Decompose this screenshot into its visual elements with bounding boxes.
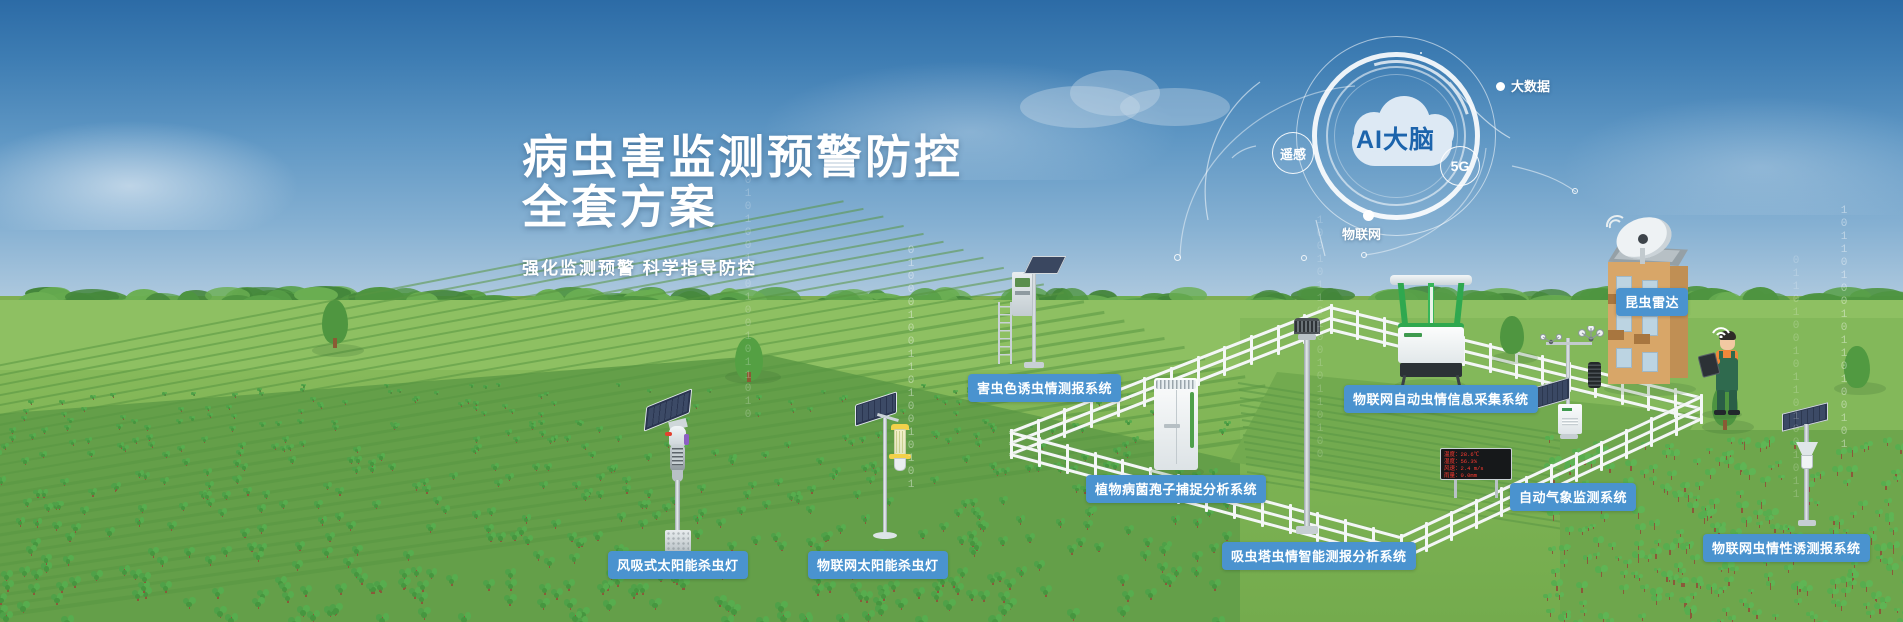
crop-plant (425, 569, 438, 581)
wind-lamp-foundation-texture (667, 532, 689, 550)
label-spore-capture[interactable]: 植物病菌孢子捕捉分析系统 (1086, 475, 1266, 503)
crop-plant (805, 538, 817, 549)
crop-plant (581, 444, 589, 451)
pest-trap-cabinet-window (1015, 278, 1030, 287)
crop-plant (595, 491, 605, 500)
crop-plant (414, 396, 420, 401)
pest-color-trap-device[interactable] (990, 272, 1070, 372)
meadow-plant (1592, 537, 1605, 548)
crop-plant (482, 580, 496, 592)
meadow-plant (1794, 599, 1802, 606)
fence-post (1090, 398, 1093, 428)
crop-plant (494, 480, 504, 488)
crop-plant (159, 582, 173, 594)
crop-plant (953, 390, 959, 395)
crop-plant (160, 478, 169, 486)
crop-plant (615, 436, 623, 443)
crop-plant (350, 568, 363, 580)
meadow-plant (1727, 438, 1735, 445)
crop-plant (353, 447, 361, 454)
crop-plant (32, 519, 43, 529)
crop-plant (298, 409, 305, 415)
meadow-plant (1676, 578, 1688, 589)
crop-plant (23, 409, 30, 415)
crop-plant (562, 580, 576, 592)
meadow-plant (1885, 564, 1900, 577)
crop-plant (134, 518, 145, 528)
ai-node-bigdata-dot[interactable] (1496, 82, 1505, 91)
crop-plant (509, 409, 516, 415)
led-info-board[interactable]: 温度：28.6℃ 湿度：56.3% 风速：2.4 m/s 雨量：0.0mm (1440, 448, 1512, 498)
crop-plant (60, 479, 70, 487)
led-board-leg-right (1495, 480, 1498, 498)
crop-plant (243, 488, 253, 497)
crop-plant (1116, 606, 1131, 619)
meadow-plant (1555, 593, 1564, 601)
crop-plant (43, 504, 54, 513)
crop-plant (9, 436, 17, 443)
fence-post (1143, 377, 1146, 407)
crop-plant (224, 614, 239, 622)
crop-plant (1, 581, 15, 593)
crop-plant (648, 599, 663, 612)
label-pest-color-trap[interactable]: 害虫色诱虫情测报系统 (968, 374, 1121, 402)
worker-shoe-r (1728, 410, 1740, 415)
crop-plant (1, 444, 9, 451)
crop-plant (0, 451, 2, 458)
crop-plant (310, 397, 316, 402)
meadow-plant (1783, 565, 1794, 575)
meadow-plant (1594, 566, 1609, 579)
crop-plant (220, 547, 232, 558)
crop-plant (62, 556, 75, 567)
crop-plant (1156, 563, 1169, 575)
meadow-plant (1772, 614, 1779, 620)
crop-plant (564, 436, 572, 443)
meadow-plant (1748, 589, 1754, 595)
meadow-plant (1694, 482, 1704, 491)
crop-plant (388, 390, 394, 395)
meadow-plant (1650, 595, 1663, 607)
crop-plant (544, 464, 553, 472)
crop-plant (1039, 586, 1053, 598)
radar-dish-mount (1640, 248, 1645, 264)
crop-plant (434, 391, 440, 396)
crop-plant (33, 490, 43, 499)
crop-plant (0, 594, 8, 607)
crop-plant (839, 397, 845, 402)
crop-plant (331, 420, 338, 426)
field-worker (1700, 330, 1748, 416)
label-iot-insect-collector[interactable]: 物联网自动虫情信息采集系统 (1344, 385, 1538, 413)
meadow-plant (1884, 517, 1895, 527)
crop-plant (647, 389, 653, 394)
crop-plant (874, 605, 889, 618)
label-iot-pheromone-trap[interactable]: 物联网虫情性诱测报系统 (1703, 534, 1870, 562)
radar-building-balcony-3 (1608, 330, 1624, 340)
radar-building-window-f (1642, 352, 1658, 372)
crop-plant (318, 404, 324, 410)
iot-insect-collector-device[interactable] (1388, 275, 1474, 387)
crop-plant (954, 428, 961, 435)
crop-plant (496, 383, 501, 388)
crop-plant (770, 533, 782, 543)
pheromone-base (1798, 520, 1816, 526)
binary-stream-1: 0100010011010010101 (905, 245, 916, 492)
crop-plant (974, 512, 985, 522)
crop-plant (551, 401, 557, 407)
crop-plant (596, 474, 605, 482)
crop-plant (784, 442, 792, 449)
meadow-plant (1723, 577, 1735, 588)
crop-plant (538, 584, 552, 596)
crop-plant (15, 518, 26, 528)
ai-node-5g-label: 5G (1451, 158, 1470, 174)
crop-plant (54, 502, 65, 511)
crop-plant (371, 501, 381, 510)
crop-plant (471, 511, 482, 521)
crop-plant (110, 393, 116, 398)
crop-plant (761, 501, 771, 510)
crop-plant (9, 428, 16, 435)
crop-plant (934, 395, 940, 400)
tree-trunk-1 (333, 338, 337, 348)
crop-plant (296, 606, 311, 619)
meadow-plant (1893, 476, 1901, 483)
crop-plant (177, 446, 185, 453)
crop-plant (67, 418, 74, 424)
crop-plant (313, 501, 323, 510)
meadow-plant (1843, 480, 1851, 487)
meadow-plant (1624, 460, 1638, 472)
crop-plant (422, 486, 432, 495)
crop-plant (1121, 591, 1135, 604)
meadow-plant (1722, 452, 1732, 461)
crop-plant (117, 443, 125, 450)
meadow-plant (1863, 603, 1871, 610)
crop-plant (183, 548, 195, 559)
crop-plant (323, 483, 333, 492)
crop-plant (85, 438, 93, 445)
pest-trap-ladder-rungs (1000, 306, 1012, 362)
crop-plant (592, 532, 604, 542)
meadow-plant (1665, 593, 1674, 601)
meadow-plant (1736, 491, 1745, 499)
worker-leg-r (1729, 390, 1737, 412)
crop-plant (807, 407, 814, 413)
fence-post (1675, 406, 1678, 436)
spore-capture-device[interactable] (1150, 378, 1204, 474)
crop-plant (774, 479, 783, 487)
crop-plant (27, 584, 41, 596)
crop-plant (568, 554, 581, 565)
crop-plant (297, 419, 304, 425)
meadow-plant (1728, 616, 1737, 622)
fence-post (1038, 437, 1041, 467)
crop-plant (90, 571, 103, 583)
crop-plant (953, 411, 960, 417)
meadow-plant (1635, 575, 1643, 582)
spore-capture-green-stripe (1190, 392, 1194, 448)
crop-plant (22, 499, 32, 508)
meadow-plant (1648, 477, 1658, 486)
crop-plant (1113, 448, 1121, 455)
crop-plant (231, 414, 238, 420)
crop-plant (70, 524, 81, 534)
crop-plant (721, 601, 736, 614)
crop-plant (469, 384, 475, 389)
meadow-plant (1649, 548, 1663, 561)
pest-trap-cabinet-slot (1015, 291, 1030, 295)
crop-plant (816, 458, 825, 466)
meadow-plant (1660, 571, 1674, 583)
crop-plant (914, 616, 929, 622)
crop-plant (256, 505, 267, 514)
crop-plant (211, 588, 225, 601)
meadow-plant (1654, 540, 1662, 547)
crop-plant (137, 505, 148, 514)
crop-plant (596, 427, 603, 434)
crop-plant (176, 419, 183, 425)
weather-station-device[interactable] (1530, 320, 1606, 442)
meadow-plant (1759, 477, 1771, 488)
meadow-plant (1585, 526, 1592, 532)
label-insect-radar[interactable]: 昆虫雷达 (1616, 288, 1688, 316)
hero-subtitle: 强化监测预警 科学指导防控 (522, 254, 1042, 279)
crop-plant (135, 471, 144, 479)
crop-plant (321, 548, 333, 559)
crop-plant (622, 486, 632, 495)
meadow-plant (1730, 567, 1740, 576)
solar-lamp-pole (883, 418, 887, 536)
crop-plant (162, 392, 168, 397)
crop-plant (532, 551, 545, 562)
crop-plant (588, 452, 596, 459)
crop-plant (59, 400, 65, 406)
crop-plant (1055, 519, 1066, 529)
meadow-plant (1733, 464, 1748, 477)
crop-plant (575, 420, 582, 426)
ai-node-5g-circle[interactable]: 5G (1440, 146, 1480, 186)
meadow-plant (1558, 545, 1570, 556)
crop-plant (1219, 429, 1226, 436)
crop-plant (449, 473, 458, 481)
crop-plant (120, 415, 127, 421)
crop-plant (988, 423, 995, 429)
collector-collection-bin (1400, 363, 1462, 377)
crop-plant (300, 388, 306, 393)
crop-plant (412, 483, 422, 492)
crop-plant (805, 506, 816, 515)
meadow-plant (1615, 556, 1622, 562)
meadow-plant (1845, 466, 1859, 478)
crop-plant (81, 407, 88, 413)
ai-node-remote-sensing-label: 遥感 (1280, 144, 1306, 163)
spore-capture-top-vent (1156, 380, 1196, 389)
ai-brain-cluster: AI大脑 遥感 大数据 5G 物联网 (1120, 20, 1580, 280)
banner-scene: 0100010011010010101 0101001101001011010 … (0, 0, 1903, 622)
crop-plant (203, 469, 212, 477)
crop-plant (324, 533, 336, 543)
crop-plant (30, 570, 43, 582)
crop-plant (756, 395, 762, 400)
crop-plant (622, 477, 631, 485)
crop-plant (636, 584, 650, 596)
meadow-plant (1751, 610, 1763, 621)
ai-node-bigdata-label: 大数据 (1511, 76, 1550, 95)
meadow-plant (1685, 542, 1694, 550)
crop-plant (51, 522, 62, 532)
crop-plant (112, 483, 122, 492)
crop-plant (25, 546, 37, 557)
meadow-plant (1848, 569, 1857, 577)
crop-plant (0, 571, 13, 583)
crop-plant (1125, 420, 1132, 426)
crop-plant (291, 561, 304, 573)
crop-plant (1142, 538, 1154, 549)
crop-plant (975, 441, 983, 448)
crop-plant (728, 458, 737, 466)
crop-plant (64, 425, 71, 431)
fence-post (1356, 310, 1359, 340)
crop-plant (156, 557, 169, 568)
meadow-plant (1756, 522, 1764, 529)
collector-cage-right (1454, 283, 1465, 327)
crop-plant (755, 617, 770, 622)
crop-plant (104, 528, 116, 538)
meadow-plant (1618, 585, 1630, 595)
crop-plant (962, 456, 971, 464)
binary-stream-4: 0110100101101001011 (1790, 255, 1801, 502)
crop-plant (282, 437, 290, 444)
crop-plant (522, 536, 534, 547)
crop-plant (1024, 534, 1036, 545)
crop-plant (947, 577, 961, 589)
worker-wifi-icon (1710, 322, 1732, 338)
crop-plant (221, 492, 231, 501)
meadow-plant (1889, 528, 1898, 536)
meadow-plant (1673, 563, 1684, 573)
wind-lamp-pole (675, 480, 680, 534)
crop-plant (335, 488, 345, 497)
crop-plant (748, 482, 758, 491)
crop-plant (989, 463, 998, 471)
ai-endpoint-dot-right (1361, 252, 1367, 258)
crop-plant (425, 524, 436, 534)
crop-plant (568, 612, 583, 622)
weather-anemometer-icon (1578, 326, 1604, 346)
crop-plant (894, 599, 909, 612)
meadow-plant (1700, 510, 1715, 523)
label-wind-suction-lamp[interactable]: 风吸式太阳能杀虫灯 (608, 551, 748, 579)
crop-plant (942, 600, 957, 613)
crop-plant (261, 491, 271, 500)
hero-title-line-1: 病虫害监测预警防控 (522, 132, 1042, 182)
crop-plant (822, 532, 834, 542)
meadow-plant (1884, 499, 1893, 507)
crop-plant (16, 602, 31, 615)
crop-plant (286, 445, 294, 452)
crop-plant (201, 437, 209, 444)
label-weather-station[interactable]: 自动气象监测系统 (1510, 483, 1636, 511)
crop-plant (178, 407, 184, 413)
meadow-plant (1894, 444, 1903, 456)
solar-lamp-tube-lines (896, 431, 904, 453)
crop-plant (1170, 516, 1181, 526)
crop-plant (271, 444, 279, 451)
radar-signal-icon (1604, 212, 1628, 232)
crop-plant (483, 385, 489, 390)
crop-plant (953, 509, 964, 519)
meadow-plant (1683, 606, 1698, 620)
wind-lamp-vent-grille (672, 448, 683, 466)
radar-building-balcony-4 (1634, 334, 1650, 344)
crop-plant (835, 525, 846, 535)
crop-plant (334, 584, 348, 596)
crop-plant (1116, 575, 1130, 587)
crop-plant (607, 466, 616, 474)
fence-post (1575, 452, 1578, 482)
crop-plant (388, 464, 397, 472)
meadow-plant (1654, 568, 1661, 574)
crop-plant (21, 416, 28, 422)
crop-plant (432, 497, 442, 506)
crop-plant (191, 392, 197, 397)
crop-plant (288, 457, 297, 465)
crop-plant (144, 425, 151, 431)
crop-plant (956, 400, 962, 406)
meadow-plant (1704, 469, 1717, 481)
crop-plant (993, 572, 1006, 584)
meadow-plant (1735, 502, 1749, 515)
label-iot-solar-lamp[interactable]: 物联网太阳能杀虫灯 (808, 551, 948, 579)
meadow-plant (1706, 448, 1713, 454)
meadow-plant (1829, 579, 1842, 590)
meadow-plant (1599, 514, 1610, 524)
label-suction-tower[interactable]: 吸虫塔虫情智能测报分析系统 (1222, 542, 1416, 570)
meadow-plant (1765, 581, 1776, 591)
crop-plant (64, 533, 76, 543)
crop-plant (240, 464, 249, 472)
worker-shoe-l (1714, 410, 1726, 415)
collector-body-logo (1404, 333, 1422, 337)
meadow-plant (1894, 608, 1901, 614)
crop-plant (933, 433, 941, 440)
crop-plant (458, 402, 464, 408)
meadow-plant (1835, 601, 1847, 612)
crop-plant (854, 591, 868, 604)
crop-plant (334, 513, 345, 523)
crop-plant (182, 598, 197, 611)
ai-node-remote-sensing[interactable] (1420, 52, 1422, 54)
tree-trunk-4 (1723, 420, 1727, 430)
crop-plant (538, 394, 544, 399)
crop-plant (481, 411, 488, 417)
ai-node-remote-sensing-circle[interactable]: 遥感 (1272, 132, 1314, 174)
crop-plant (162, 452, 170, 459)
meadow-plant (1850, 512, 1857, 519)
ai-node-iot-dot[interactable] (1363, 210, 1374, 221)
wind-suction-lamp-device[interactable] (645, 398, 705, 558)
pest-trap-base (1024, 362, 1044, 368)
hero-text-block: 病虫害监测预警防控 全套方案 强化监测预警 科学指导防控 (522, 132, 1042, 279)
meadow-plant (1896, 618, 1903, 622)
tree-canopy-3 (1500, 316, 1524, 354)
crop-plant (79, 507, 90, 517)
crop-plant (504, 580, 518, 592)
crop-plant (69, 440, 77, 447)
crop-plant (178, 503, 189, 512)
